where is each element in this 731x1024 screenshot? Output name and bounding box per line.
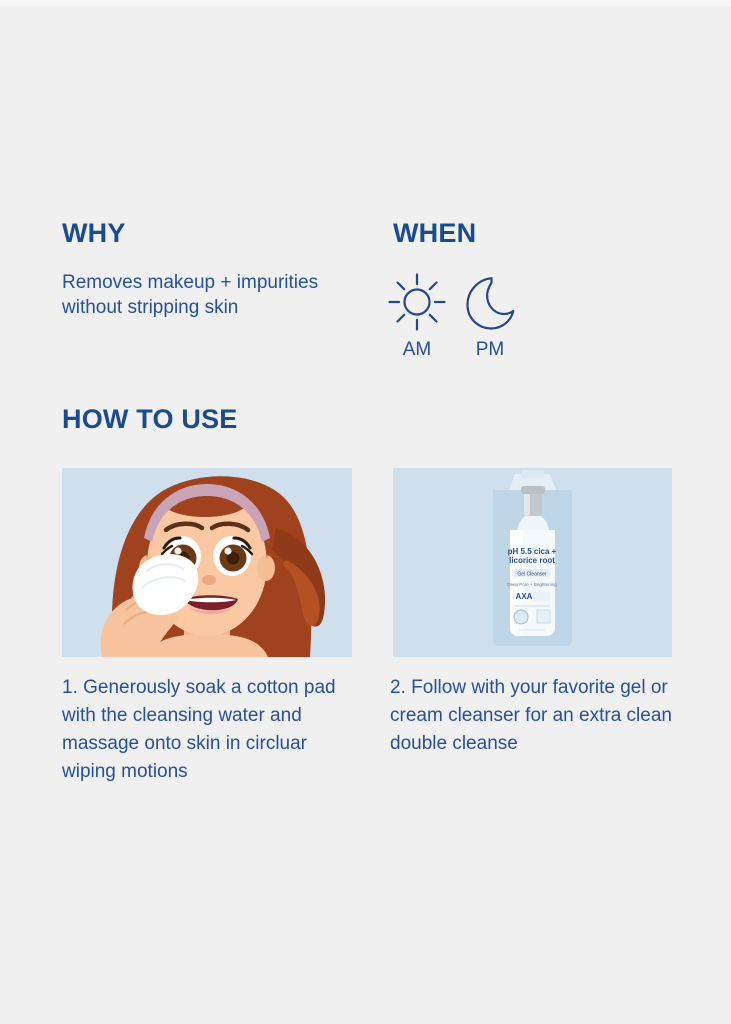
svg-text:AXA: AXA: [516, 592, 533, 601]
am-icon-group: AM: [377, 271, 457, 361]
svg-text:Gel Cleanser: Gel Cleanser: [517, 572, 547, 578]
pm-icon-group: PM: [450, 271, 530, 361]
when-icon-row: AM PM: [393, 271, 673, 371]
how-to-use-heading: HOW TO USE: [62, 404, 238, 435]
step-1-body: Generously soak a cotton pad with the cl…: [62, 677, 336, 782]
step-2-image: pH 5.5 cica + licorice root Gel Cleanser…: [393, 468, 672, 657]
when-heading: WHEN: [393, 218, 673, 249]
step-1-image: [62, 468, 352, 657]
step-1-number: 1.: [62, 677, 78, 698]
step-2-number: 2.: [390, 677, 406, 698]
when-section: WHEN AM: [393, 218, 673, 371]
why-body-text: Removes makeup + impurities without stri…: [62, 270, 362, 320]
step-1-caption: 1. Generously soak a cotton pad with the…: [62, 674, 354, 786]
svg-text:licorice root: licorice root: [509, 556, 555, 565]
why-section: WHY Removes makeup + impurities without …: [62, 218, 362, 320]
svg-text:pH 5.5 cica +: pH 5.5 cica +: [508, 547, 557, 556]
sun-icon: [377, 271, 457, 333]
step-2-caption: 2. Follow with your favorite gel or crea…: [390, 674, 680, 758]
top-edge-band: [0, 0, 731, 6]
moon-icon: [450, 271, 530, 333]
pm-label: PM: [450, 339, 530, 361]
svg-text:Deep Pore + Brightening: Deep Pore + Brightening: [507, 582, 557, 587]
step-2-body: Follow with your favorite gel or cream c…: [390, 677, 672, 754]
am-label: AM: [377, 339, 457, 361]
why-heading: WHY: [62, 218, 362, 249]
